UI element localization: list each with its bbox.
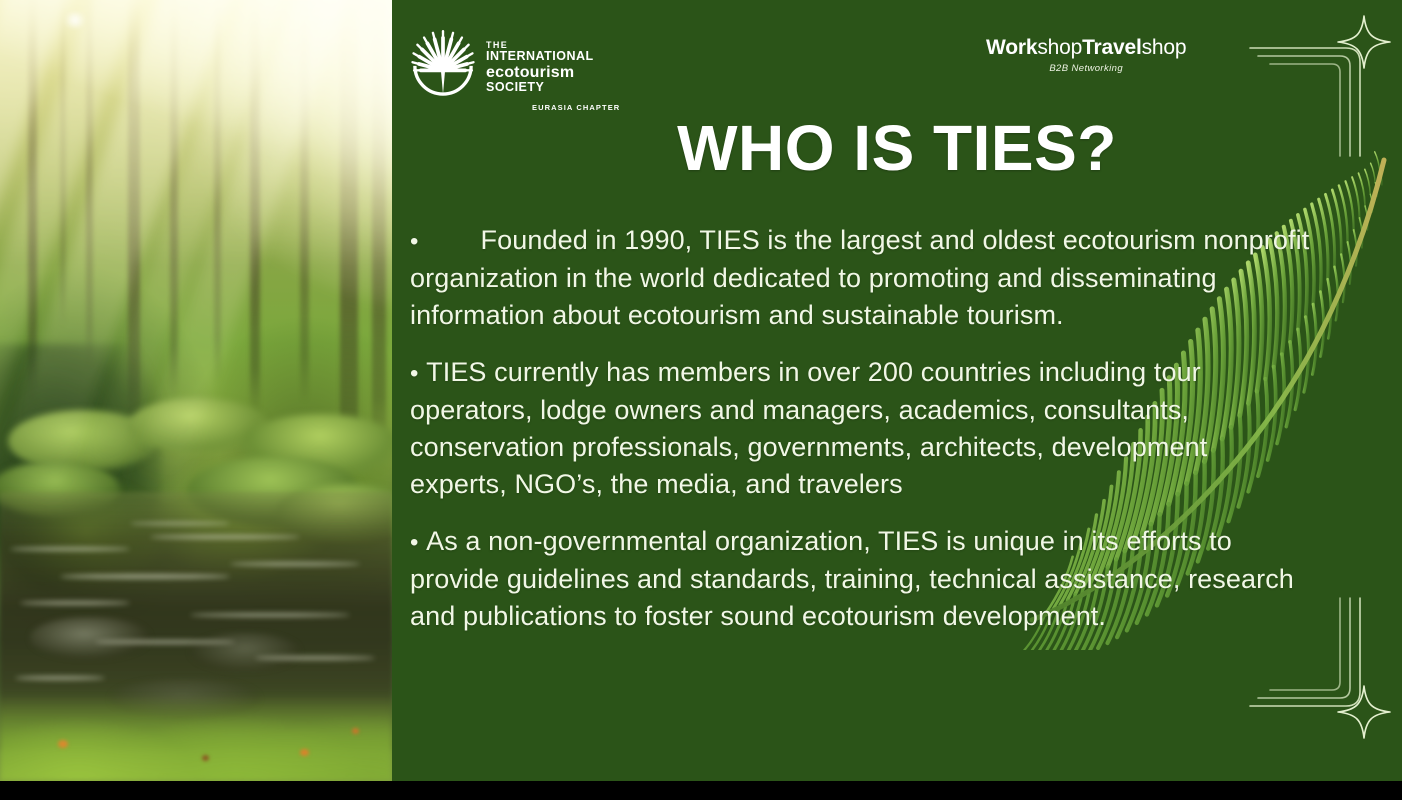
star-icon [1338,686,1390,738]
forest-stream-photo [0,0,392,781]
ties-logo-chapter: EURASIA CHAPTER [532,103,620,112]
bullet-item-2: • TIES currently has members in over 200… [410,354,1310,503]
ties-logo-wordmark: THE INTERNATIONAL ecotourism SOCIETY EUR… [486,22,620,112]
letterbox-bar [0,781,1402,800]
golden-haze [0,0,392,266]
bullet-item-3: • As a non-governmental organization, TI… [410,523,1310,635]
ties-tree-mark-icon [406,22,480,98]
wts-word-shop2: shop [1142,36,1187,59]
bullet-text: As a non-governmental organization, TIES… [410,526,1294,631]
bullet-item-1: •Founded in 1990, TIES is the largest an… [410,222,1310,334]
bullet-text: Founded in 1990, TIES is the largest and… [410,225,1309,330]
wts-word-travel: Travel [1082,36,1142,59]
wts-word-shop1: shop [1037,36,1082,59]
wts-word-work: Work [986,36,1037,59]
content-panel: THE INTERNATIONAL ecotourism SOCIETY EUR… [392,0,1402,781]
ties-logo-line-international: INTERNATIONAL [486,50,620,64]
ties-logo-line-ecotourism: ecotourism [486,64,620,81]
presentation-slide: THE INTERNATIONAL ecotourism SOCIETY EUR… [0,0,1402,800]
bullet-marker: • [410,529,419,556]
star-icon [1338,16,1390,68]
bullet-list: •Founded in 1990, TIES is the largest an… [410,222,1310,655]
ties-logo: THE INTERNATIONAL ecotourism SOCIETY EUR… [406,22,620,112]
workshop-travelshop-tagline: B2B Networking [986,63,1186,74]
bullet-marker: • [410,360,419,387]
workshop-travelshop-wordmark: WorkshopTravelshop [986,36,1186,60]
bullet-text: TIES currently has members in over 200 c… [410,357,1207,499]
ties-logo-line-society: SOCIETY [486,81,620,95]
workshop-travelshop-logo: WorkshopTravelshop B2B Networking [986,36,1186,74]
sun-flare-speck [62,12,88,28]
bullet-marker: • [410,228,419,255]
page-title: WHO IS TIES? [392,112,1402,184]
